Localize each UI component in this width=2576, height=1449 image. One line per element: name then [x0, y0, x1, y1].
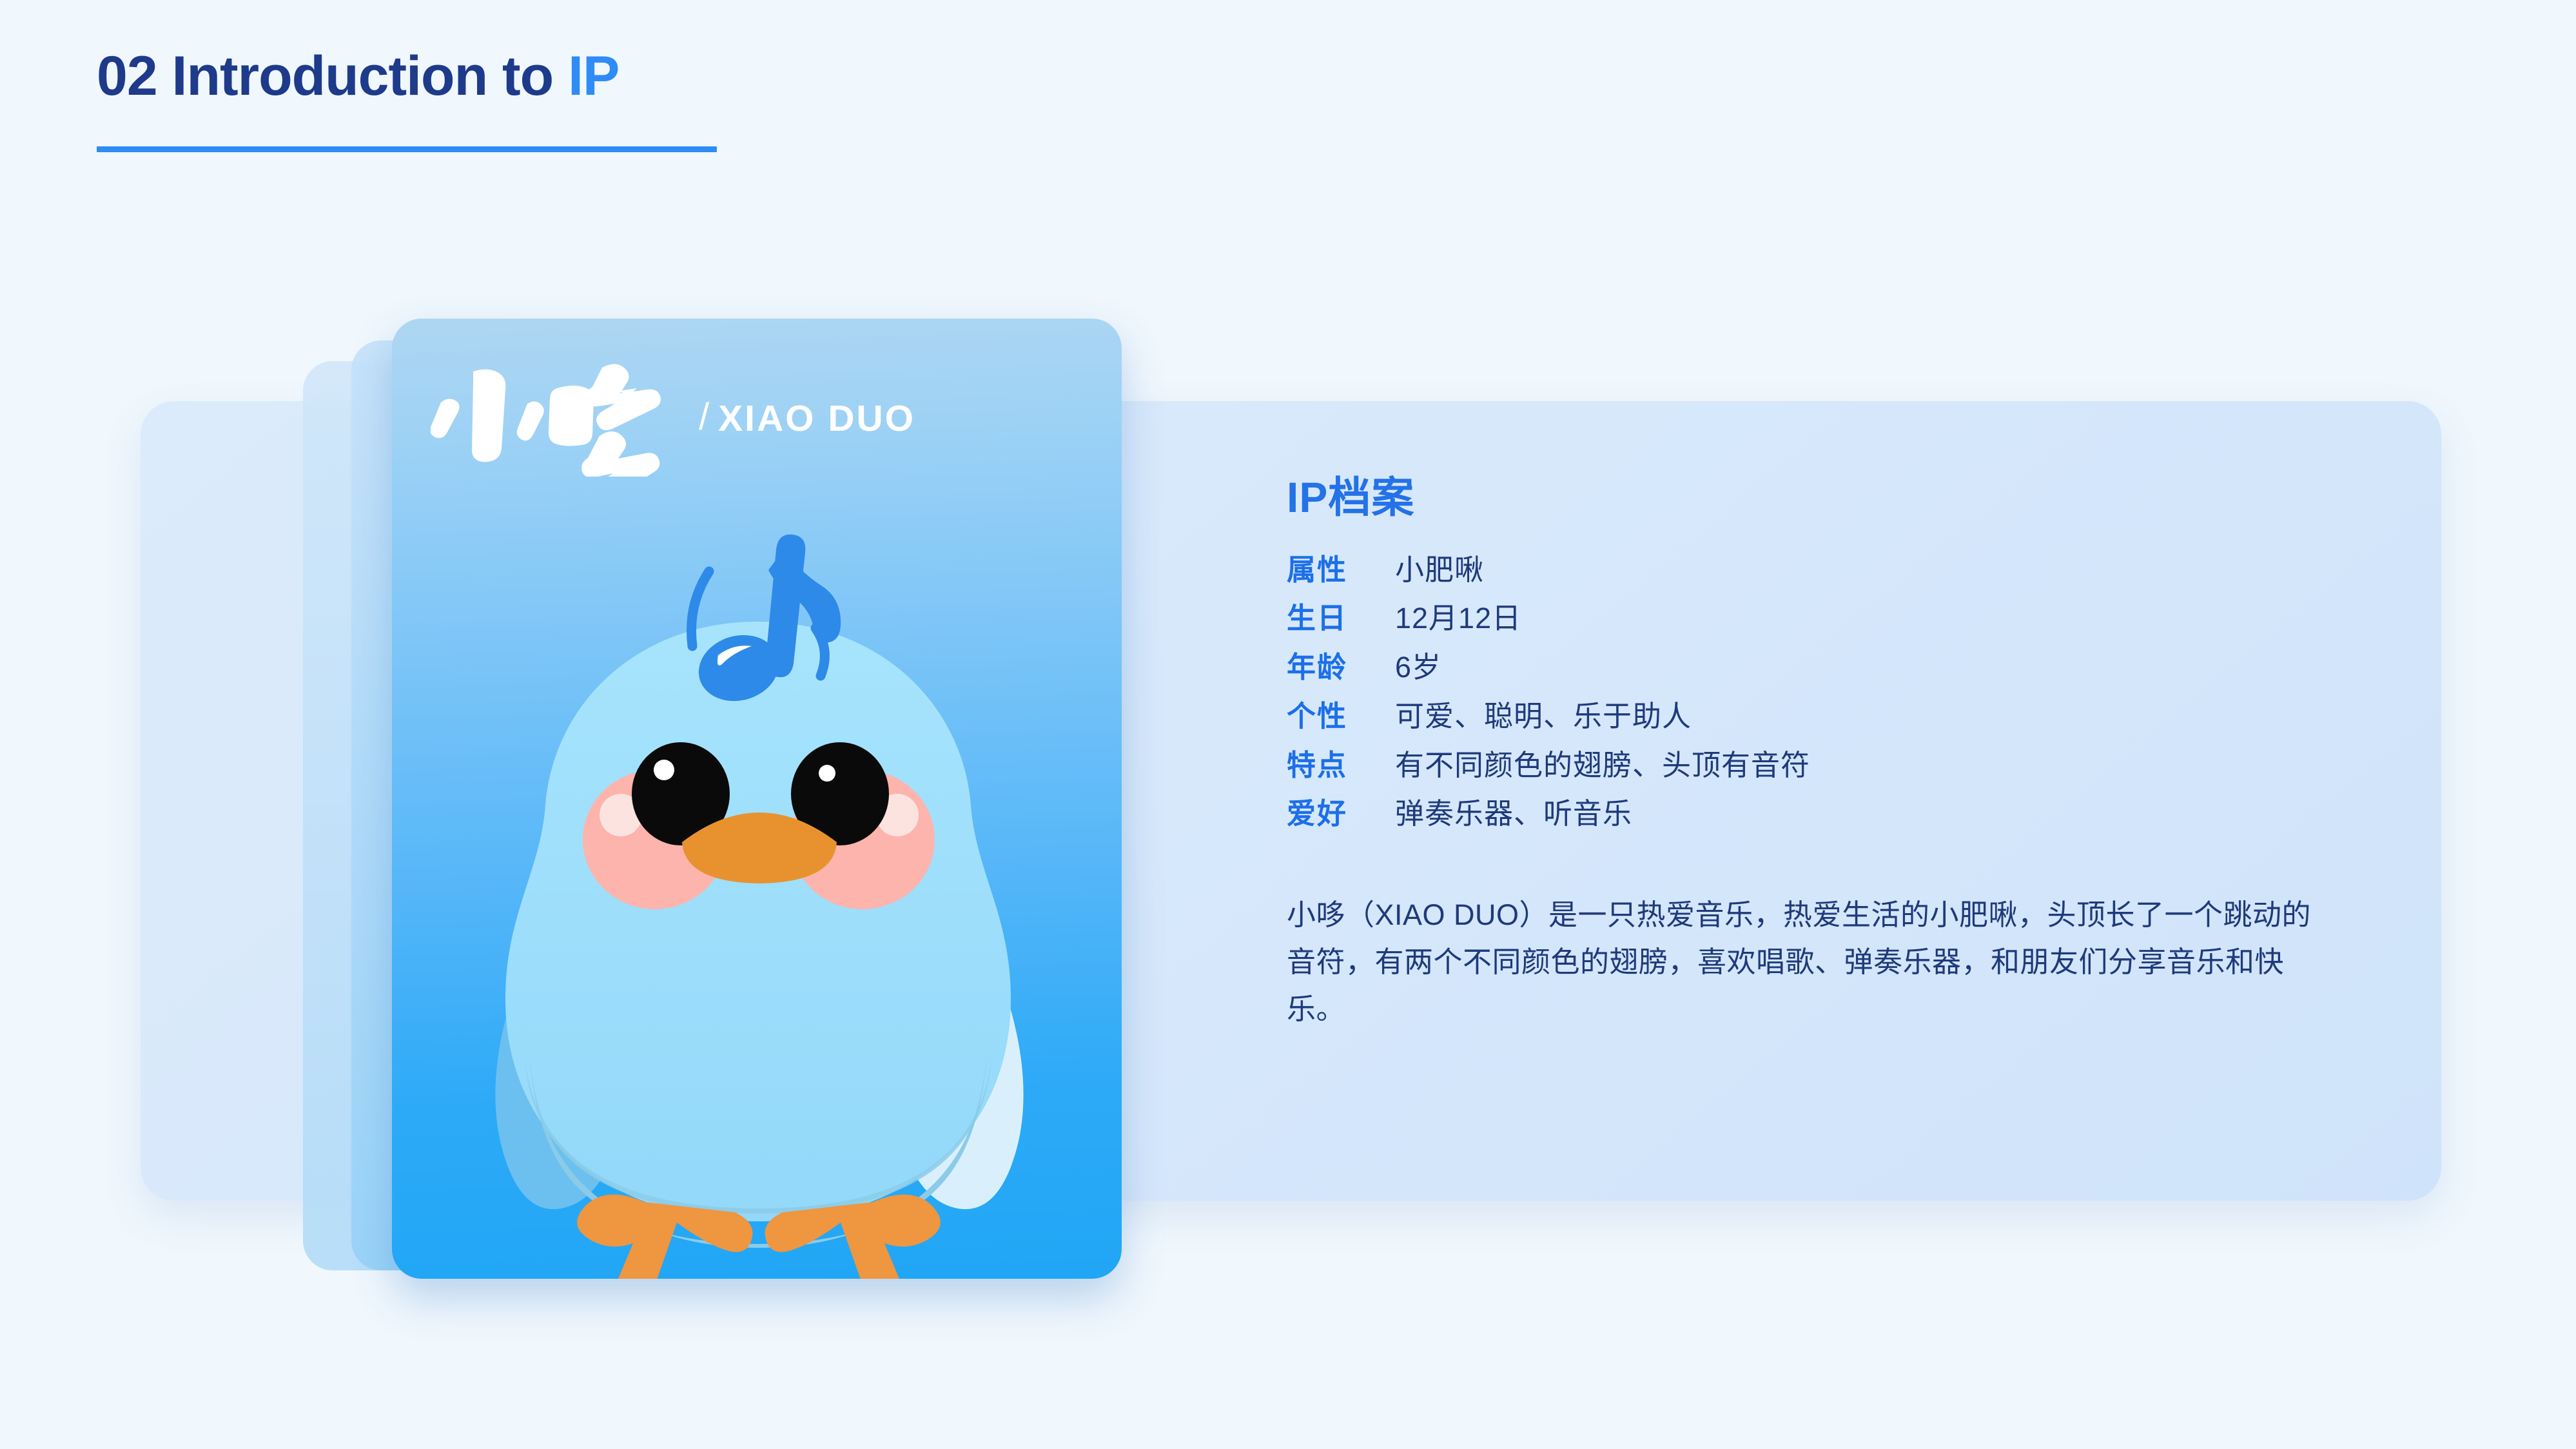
profile-row: 属性 小肥啾 — [1287, 551, 2331, 590]
brand-separator: / — [699, 399, 709, 436]
profile-label-hobbies: 爱好 — [1287, 794, 1395, 834]
profile-label-personality: 个性 — [1287, 697, 1395, 736]
profile-row: 生日 12月12日 — [1287, 599, 2331, 638]
bird-character-illustration — [418, 531, 1098, 1279]
bird-body — [505, 622, 1011, 1248]
profile-description: 小哆（XIAO DUO）是一只热爱音乐，热爱生活的小肥啾，头顶长了一个跳动的音符… — [1287, 892, 2318, 1033]
profile-value-hobbies: 弹奏乐器、听音乐 — [1395, 794, 2331, 834]
profile-row: 个性 可爱、聪明、乐于助人 — [1287, 697, 2331, 736]
page-title-text: 02 Introduction to — [97, 45, 568, 107]
profile-label-features: 特点 — [1287, 746, 1395, 785]
profile-row: 特点 有不同颜色的翅膀、头顶有音符 — [1287, 746, 2331, 785]
profile-row: 爱好 弹奏乐器、听音乐 — [1287, 794, 2331, 834]
page-title: 02 Introduction to IP — [97, 48, 870, 104]
character-card[interactable]: / XIAO DUO — [392, 319, 1122, 1279]
brand-logo-cn-icon — [431, 364, 688, 477]
profile-value-age: 6岁 — [1395, 648, 2331, 687]
title-underline — [97, 146, 717, 152]
profile-value-features: 有不同颜色的翅膀、头顶有音符 — [1395, 746, 2331, 785]
profile-label-attribute: 属性 — [1287, 551, 1395, 590]
profile-row: 年龄 6岁 — [1287, 648, 2331, 687]
profile-value-birthday: 12月12日 — [1395, 599, 2331, 638]
ip-profile: IP档案 属性 小肥啾 生日 12月12日 年龄 6岁 个性 可爱、聪明、乐于助… — [1287, 474, 2331, 1033]
section-header: 02 Introduction to IP — [97, 48, 870, 164]
page-title-accent: IP — [568, 45, 619, 107]
card-brand-header: / XIAO DUO — [431, 359, 1082, 481]
profile-title: IP档案 — [1287, 474, 2331, 521]
profile-label-birthday: 生日 — [1287, 599, 1395, 638]
profile-label-age: 年龄 — [1287, 648, 1395, 687]
profile-value-personality: 可爱、聪明、乐于助人 — [1395, 697, 2331, 736]
profile-value-attribute: 小肥啾 — [1395, 551, 2331, 590]
brand-logo-latin: XIAO DUO — [718, 397, 915, 440]
